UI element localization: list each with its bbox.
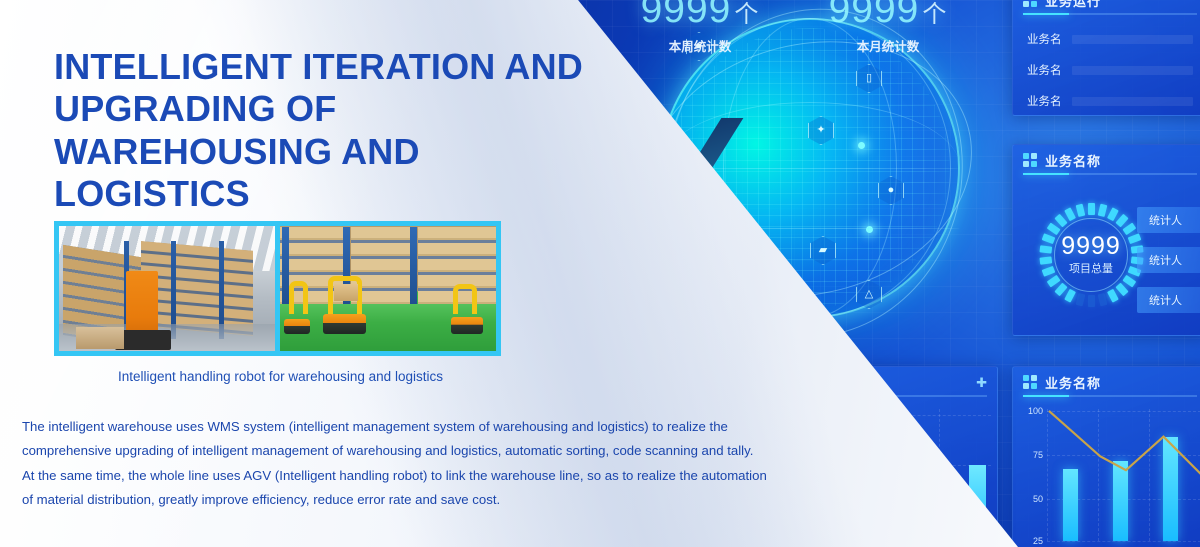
card-project-total[interactable]: 业务名称 9999 项目总量 统计人 统计人 统计人 [1012, 144, 1200, 336]
gauge-center: 9999 项目总量 [1039, 203, 1143, 307]
chart-plot-area [1047, 409, 1200, 541]
progress-track [1072, 66, 1194, 75]
y-axis-tick: 50 [1015, 494, 1043, 504]
grid-squares-icon [1023, 375, 1037, 389]
stat-pill[interactable]: 统计人 [1137, 207, 1200, 233]
stat-month-unit: 个 [922, 1, 947, 28]
card-header: 业务名称 [1013, 145, 1200, 175]
stat-pill[interactable]: 统计人 [1137, 287, 1200, 313]
photo-warehouse-agv [280, 226, 496, 351]
list-item[interactable]: 业务名 [1027, 31, 1193, 47]
y-axis-tick: 75 [1015, 450, 1043, 460]
chart-trend-line [1047, 409, 1200, 547]
y-axis-tick: 100 [1015, 406, 1043, 416]
stat-week-value: 9999个 [620, 0, 780, 32]
row-label: 业务名 [1027, 31, 1062, 47]
stat-month: 9999个 本月统计数 [808, 0, 968, 55]
combo-chart: 100 75 50 25 [1013, 397, 1200, 547]
add-icon[interactable]: ✚ [976, 376, 987, 389]
globe-glow-dot [858, 142, 865, 149]
card-business-running[interactable]: 业务运行 业务名 业务名 业务名 [1012, 0, 1200, 116]
y-axis-tick: 25 [1015, 536, 1043, 546]
grid-squares-icon [1023, 153, 1037, 167]
photo-caption: Intelligent handling robot for warehousi… [118, 369, 443, 384]
statistics-pill-column: 统计人 统计人 统计人 [1137, 207, 1200, 313]
stat-week-label: 本周统计数 [620, 36, 780, 55]
progress-track [1072, 97, 1194, 106]
stat-week-number: 9999 [641, 0, 732, 31]
page-title: INTELLIGENT ITERATION AND UPGRADING OF W… [54, 46, 594, 216]
grid-squares-icon [1023, 0, 1037, 7]
card-title: 业务运行 [1045, 0, 1101, 10]
stat-month-number: 9999 [829, 0, 920, 31]
business-bar-list: 业务名 业务名 业务名 [1013, 15, 1200, 116]
stat-pill[interactable]: 统计人 [1137, 247, 1200, 273]
list-item[interactable]: 业务名 [1027, 62, 1193, 78]
card-header: 业务名称 [1013, 367, 1200, 397]
header-underline [1023, 13, 1197, 15]
banner-root: ● ▯ ✦ ● ▰ △ 9999个 本周统计数 9999个 本月统计数 [0, 0, 1200, 547]
photo-gallery [54, 221, 501, 356]
photo-warehouse-forklift [59, 226, 275, 351]
stat-week-unit: 个 [734, 1, 759, 28]
card-title: 业务名称 [1045, 373, 1101, 392]
gauge-area: 9999 项目总量 统计人 统计人 统计人 [1013, 175, 1200, 335]
body-paragraph: The intelligent warehouse uses WMS syste… [22, 415, 767, 513]
donut-gauge: 9999 项目总量 [1039, 203, 1143, 307]
card-header: 业务运行 [1013, 0, 1200, 15]
card-combo-chart[interactable]: 业务名称 100 75 50 25 [1012, 366, 1200, 547]
stat-month-value: 9999个 [808, 0, 968, 32]
row-label: 业务名 [1027, 62, 1062, 78]
stat-month-label: 本月统计数 [808, 36, 968, 55]
card-title: 业务名称 [1045, 151, 1101, 170]
globe-glow-dot [866, 226, 873, 233]
gauge-caption: 项目总量 [1069, 260, 1113, 276]
list-item[interactable]: 业务名 [1027, 93, 1193, 109]
row-label: 业务名 [1027, 93, 1062, 109]
gauge-value: 9999 [1061, 234, 1121, 259]
progress-track [1072, 35, 1194, 44]
stat-week: 9999个 本周统计数 [620, 0, 780, 55]
